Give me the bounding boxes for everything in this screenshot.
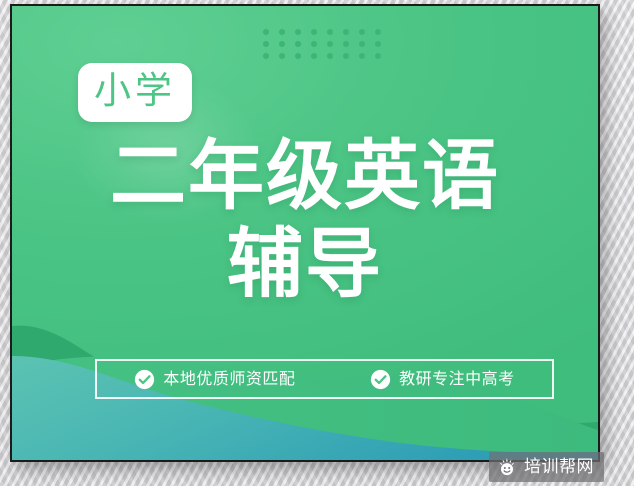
dot bbox=[279, 53, 285, 59]
dot bbox=[295, 29, 301, 35]
dot bbox=[327, 53, 333, 59]
smiley-sun-icon bbox=[497, 457, 517, 477]
dot bbox=[263, 29, 269, 35]
feature-list: 本地优质师资匹配 教研专注中高考 bbox=[95, 359, 554, 399]
dot bbox=[263, 41, 269, 47]
dot bbox=[343, 53, 349, 59]
dot bbox=[375, 53, 381, 59]
dot bbox=[279, 41, 285, 47]
dot bbox=[327, 41, 333, 47]
check-circle-icon bbox=[370, 369, 391, 390]
dot bbox=[359, 53, 365, 59]
check-circle-icon bbox=[134, 369, 155, 390]
dot bbox=[375, 29, 381, 35]
dot bbox=[295, 53, 301, 59]
grade-level-label: 小学 bbox=[94, 69, 176, 113]
dot bbox=[327, 29, 333, 35]
dot bbox=[343, 41, 349, 47]
dot bbox=[311, 29, 317, 35]
dot bbox=[295, 41, 301, 47]
dot-grid-icon bbox=[258, 26, 386, 62]
feature-item-1: 本地优质师资匹配 bbox=[128, 369, 301, 390]
grade-level-tag: 小学 bbox=[78, 63, 192, 122]
dot bbox=[311, 53, 317, 59]
dot bbox=[311, 41, 317, 47]
dot bbox=[375, 41, 381, 47]
dot bbox=[279, 29, 285, 35]
dot bbox=[263, 53, 269, 59]
dot bbox=[343, 29, 349, 35]
feature-label-2: 教研专注中高考 bbox=[399, 369, 515, 389]
dot bbox=[359, 29, 365, 35]
dot bbox=[359, 41, 365, 47]
feature-item-2: 教研专注中高考 bbox=[364, 369, 521, 390]
site-watermark: 培训帮网 bbox=[489, 452, 604, 482]
course-poster-card: 小学 二年级英语 辅导 bbox=[10, 4, 600, 462]
watermark-text: 培训帮网 bbox=[524, 457, 594, 477]
feature-label-1: 本地优质师资匹配 bbox=[163, 369, 295, 389]
